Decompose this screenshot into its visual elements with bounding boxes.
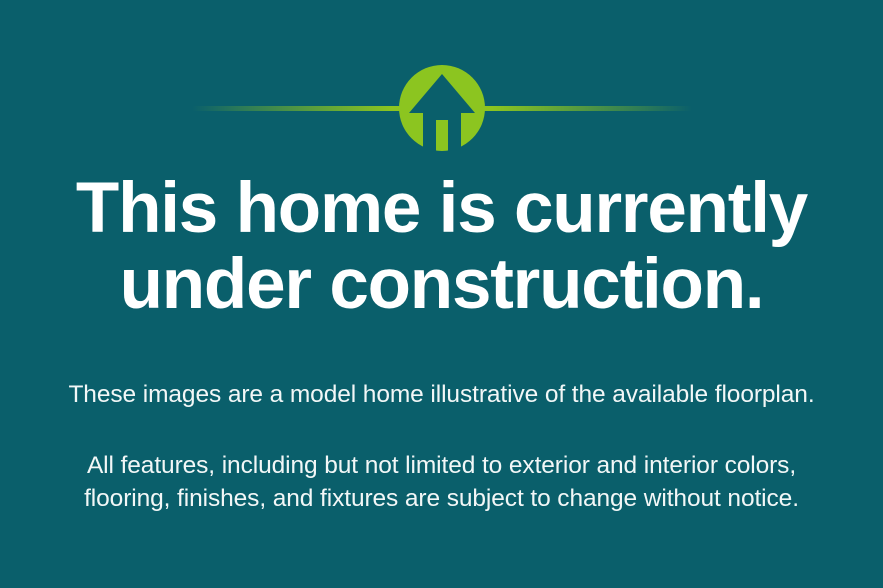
- disclaimer-paragraph-2-line-2: flooring, finishes, and fixtures are sub…: [0, 482, 883, 515]
- headline-line-1: This home is currently: [0, 171, 883, 247]
- disclaimer-paragraph-1: These images are a model home illustrati…: [0, 378, 883, 411]
- logo-divider-row: [0, 62, 883, 154]
- disclaimer-paragraph-2-line-1: All features, including but not limited …: [0, 449, 883, 482]
- home-up-arrow-logo-icon: [396, 62, 488, 154]
- paragraph-spacer: [0, 411, 883, 449]
- headline-line-2: under construction.: [0, 247, 883, 323]
- headline: This home is currently under constructio…: [0, 171, 883, 323]
- divider-line-right: [482, 106, 692, 111]
- disclaimer-text: These images are a model home illustrati…: [0, 378, 883, 515]
- under-construction-banner: This home is currently under constructio…: [0, 0, 883, 588]
- divider-line-left: [192, 106, 402, 111]
